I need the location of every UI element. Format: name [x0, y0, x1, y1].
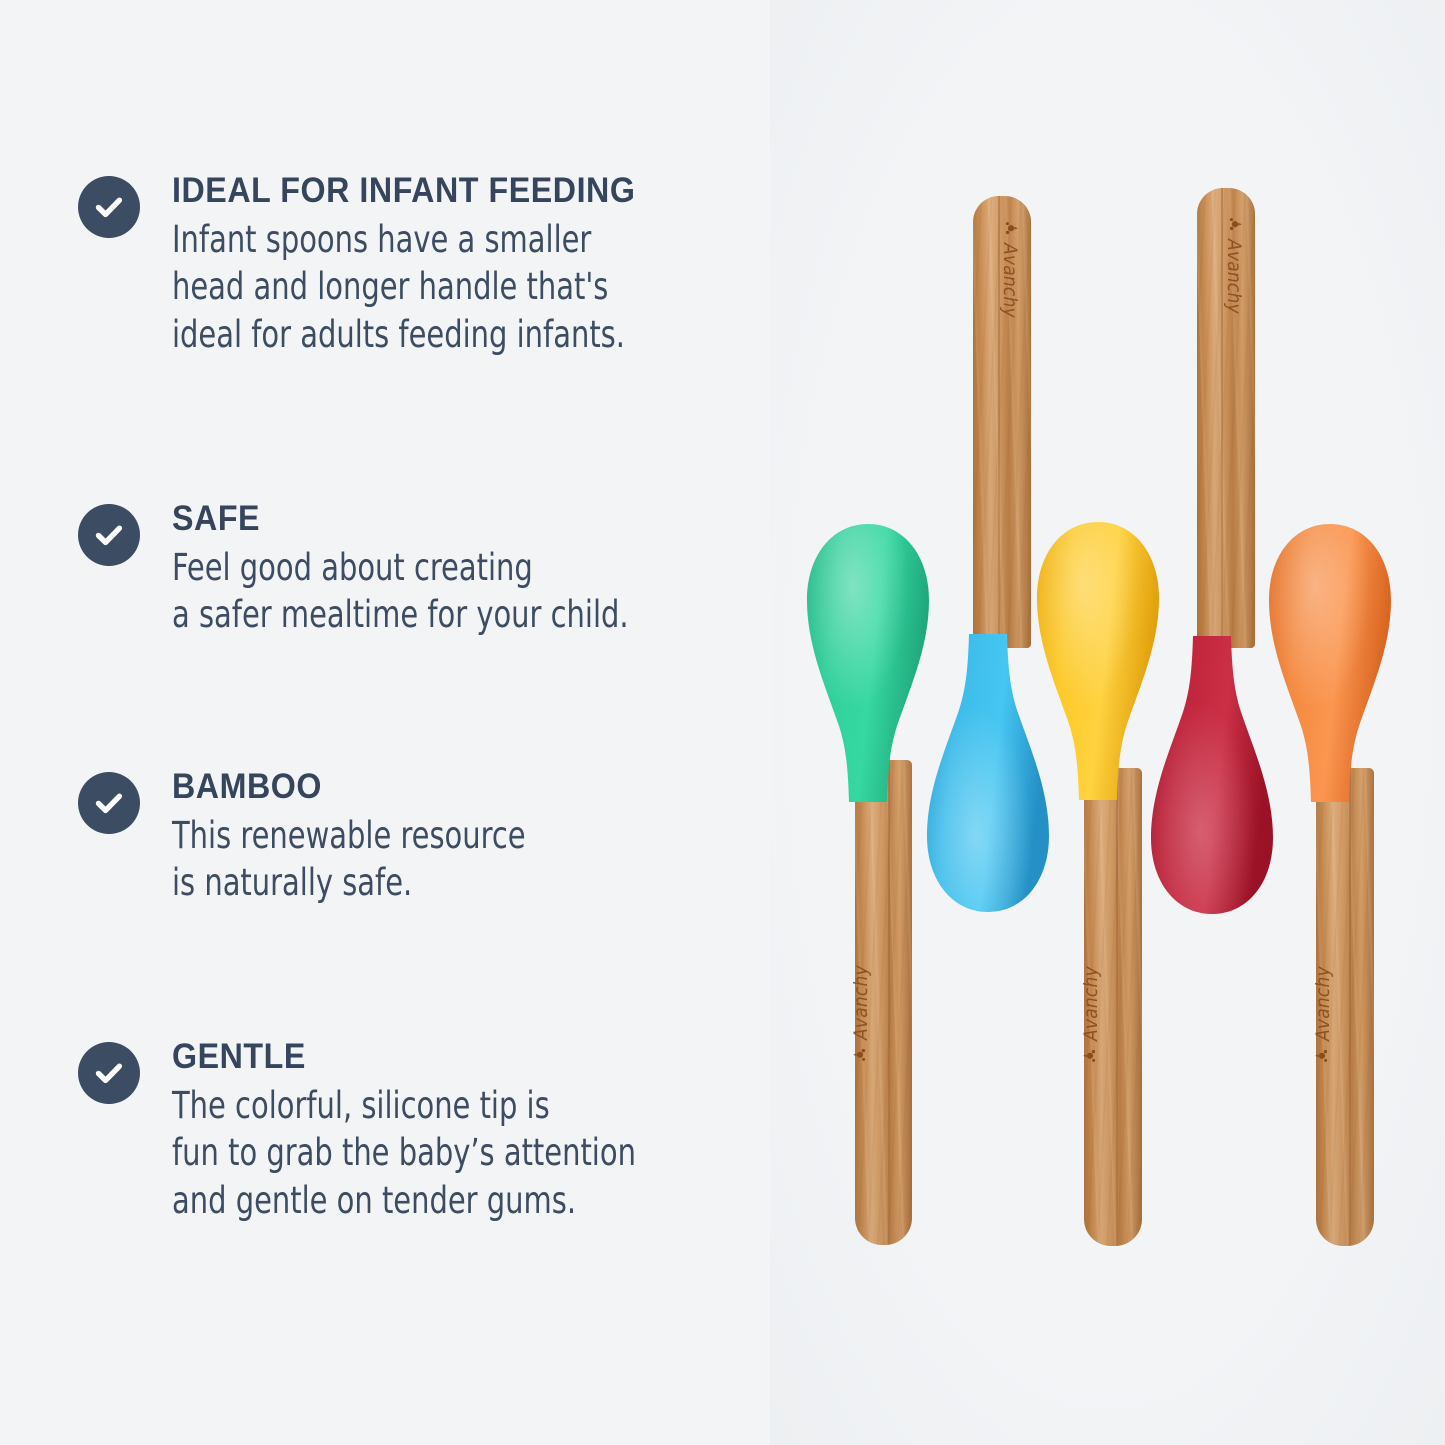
feature-text: GENTLE The colorful, silicone tip is fun… [172, 1038, 798, 1224]
infographic-page: IDEAL FOR INFANT FEEDING Infant spoons h… [0, 0, 1445, 1445]
feature-item-safe: SAFE Feel good about creating a safer me… [78, 500, 798, 639]
feature-description: The colorful, silicone tip is fun to gra… [172, 1082, 717, 1224]
feature-description: Infant spoons have a smaller head and lo… [172, 216, 717, 358]
bamboo-handle [1084, 768, 1142, 1246]
green-spoon: Avanchy [798, 520, 938, 1250]
feature-description: This renewable resource is naturally saf… [172, 812, 717, 907]
checkmark-circle-icon [78, 504, 140, 566]
feature-title: GENTLE [172, 1038, 748, 1076]
feature-item-ideal-for-infant-feeding: IDEAL FOR INFANT FEEDING Infant spoons h… [78, 172, 798, 358]
feature-list: IDEAL FOR INFANT FEEDING Infant spoons h… [0, 0, 810, 1445]
feature-title: SAFE [172, 500, 748, 538]
feature-description: Feel good about creating a safer mealtim… [172, 544, 717, 639]
bamboo-handle [855, 760, 912, 1245]
bamboo-handle [1316, 768, 1374, 1246]
product-image: Avanchy Avanchy [770, 0, 1445, 1445]
feature-text: IDEAL FOR INFANT FEEDING Infant spoons h… [172, 172, 798, 358]
silicone-tip [1260, 520, 1400, 820]
feature-text: BAMBOO This renewable resource is natura… [172, 768, 798, 907]
checkmark-circle-icon [78, 772, 140, 834]
bamboo-handle [1197, 188, 1255, 648]
silicone-tip [798, 520, 938, 820]
checkmark-circle-icon [78, 1042, 140, 1104]
feature-text: SAFE Feel good about creating a safer me… [172, 500, 798, 639]
checkmark-circle-icon [78, 176, 140, 238]
feature-item-gentle: GENTLE The colorful, silicone tip is fun… [78, 1038, 798, 1224]
bamboo-handle [973, 196, 1031, 648]
feature-title: IDEAL FOR INFANT FEEDING [172, 172, 748, 210]
orange-spoon: Avanchy [1260, 520, 1400, 1250]
feature-title: BAMBOO [172, 768, 748, 806]
feature-item-bamboo: BAMBOO This renewable resource is natura… [78, 768, 798, 907]
